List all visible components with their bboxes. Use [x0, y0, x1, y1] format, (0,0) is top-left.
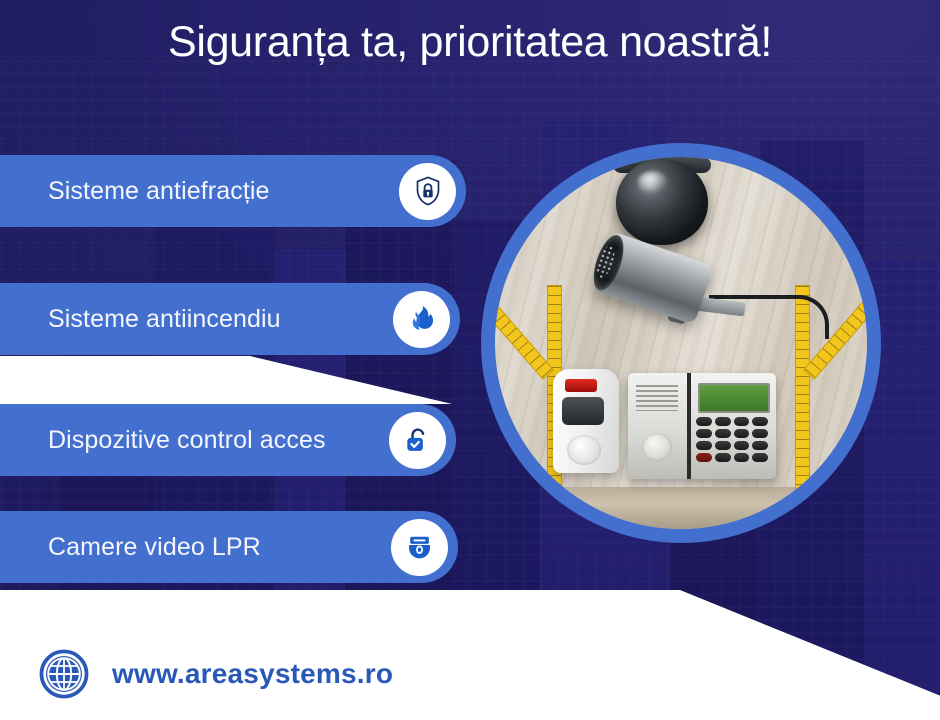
photo-ring: [481, 143, 881, 543]
service-item-antiincendiu[interactable]: Sisteme antiincendiu: [0, 283, 460, 355]
unlocked-padlock-check-icon: [389, 412, 446, 469]
shield-lock-icon: [399, 163, 456, 220]
sensor-fresnel-lens: [562, 397, 604, 425]
shelf-surface: [495, 487, 867, 529]
alarm-keypad-panel: [628, 373, 776, 479]
footer: www.areasystems.ro: [38, 648, 393, 700]
panel-speaker-grille: [636, 385, 678, 411]
service-label: Sisteme antiincendiu: [48, 305, 281, 334]
pir-motion-sensor: [553, 369, 619, 473]
sensor-knob: [567, 435, 601, 465]
banner-title: Siguranța ta, prioritatea noastră!: [0, 18, 940, 67]
service-label: Sisteme antiefracție: [48, 177, 270, 206]
service-item-camere-lpr[interactable]: Camere video LPR: [0, 511, 458, 583]
promo-banner: Siguranța ta, prioritatea noastră!: [0, 0, 940, 720]
dome-camera-icon: [391, 519, 448, 576]
panel-lcd-display: [698, 383, 770, 413]
service-item-control-acces[interactable]: Dispozitive control acces: [0, 404, 456, 476]
dome-camera: [616, 159, 708, 245]
service-item-antiefractie[interactable]: Sisteme antiefracție: [0, 155, 466, 227]
security-equipment-photo: [495, 157, 867, 529]
globe-icon: [38, 648, 90, 700]
panel-keypad: [696, 417, 768, 462]
panel-divider: [687, 373, 691, 479]
panel-knob: [642, 433, 672, 461]
sensor-led-indicator: [565, 379, 597, 392]
service-label: Dispozitive control acces: [48, 426, 326, 455]
service-label: Camere video LPR: [48, 533, 261, 562]
website-url[interactable]: www.areasystems.ro: [112, 658, 393, 690]
flame-icon: [393, 291, 450, 348]
